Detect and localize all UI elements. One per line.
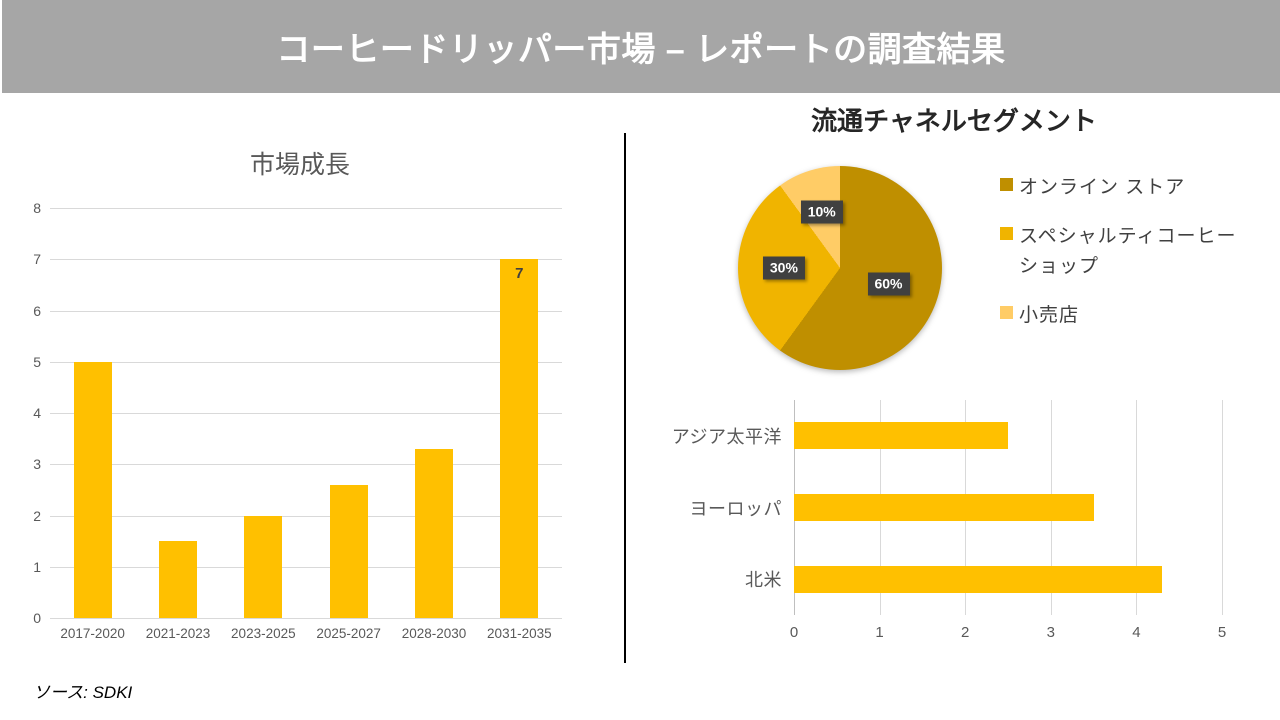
legend-swatch-icon	[1000, 178, 1013, 191]
bar: 7	[500, 259, 538, 618]
x-axis-tick-label: 5	[1218, 624, 1226, 641]
x-axis-tick-label: 2028-2030	[402, 626, 467, 641]
gridline: 5	[50, 362, 562, 363]
legend-item-label: オンライン ストア	[1019, 173, 1185, 202]
y-axis-tick-label: 7	[33, 251, 41, 267]
gridline: 3	[50, 464, 562, 465]
y-axis-tick-label: 6	[33, 303, 41, 319]
x-axis-tick-label: 2025-2027	[316, 626, 381, 641]
x-axis-tick-label: 2031-2035	[487, 626, 552, 641]
legend-swatch-icon	[1000, 306, 1013, 319]
distribution-channel-title: 流通チャネルセグメント	[654, 101, 1254, 138]
bar	[794, 422, 1008, 449]
distribution-channel-pie: 60%30%10%	[738, 166, 942, 370]
y-axis-tick-label: 8	[33, 200, 41, 216]
gridline: 2	[50, 516, 562, 517]
x-axis-tick-label: 1	[875, 624, 883, 641]
gridline: 6	[50, 311, 562, 312]
x-axis-tick-label: 3	[1047, 624, 1055, 641]
legend-item[interactable]: スペシャルティコーヒーショップ	[1000, 222, 1250, 281]
y-axis-tick-label: 2	[33, 508, 41, 524]
right-panel: 流通チャネルセグメント 60%30%10% オンライン ストアスペシャルティコー…	[624, 95, 1280, 720]
bar	[415, 449, 453, 618]
gridline: 0	[50, 618, 562, 619]
x-axis-tick-label: 2017-2020	[60, 626, 125, 641]
y-axis-category-label: アジア太平洋	[672, 423, 782, 449]
legend-item-label: 小売店	[1019, 301, 1079, 330]
x-axis-tick-label: 2	[961, 624, 969, 641]
y-axis-tick-label: 3	[33, 456, 41, 472]
gridline	[1222, 400, 1223, 615]
gridline: 1	[50, 567, 562, 568]
x-axis-tick-label: 4	[1132, 624, 1140, 641]
y-axis-tick-label: 4	[33, 405, 41, 421]
market-growth-chart: 市場成長 0123456782017-20202021-20232023-202…	[0, 100, 610, 720]
pie-slice-value-label: 30%	[763, 257, 805, 280]
x-axis-tick-label: 2021-2023	[146, 626, 211, 641]
legend-item-label: スペシャルティコーヒーショップ	[1019, 222, 1250, 281]
regional-market-plot-area: 012345アジア太平洋ヨーロッパ北米	[794, 400, 1222, 615]
y-axis-category-label: 北米	[745, 566, 782, 592]
legend-item[interactable]: 小売店	[1000, 301, 1250, 330]
page-title: コーヒードリッパー市場 – レポートの調査結果	[2, 0, 1280, 93]
header-banner: コーヒードリッパー市場 – レポートの調査結果	[2, 0, 1280, 93]
gridline: 8	[50, 208, 562, 209]
bar	[74, 362, 112, 618]
bar	[244, 516, 282, 619]
legend-item[interactable]: オンライン ストア	[1000, 173, 1250, 202]
source-note: ソース: SDKI	[33, 678, 132, 703]
gridline: 4	[50, 413, 562, 414]
bar	[159, 541, 197, 618]
pie-legend: オンライン ストアスペシャルティコーヒーショップ小売店	[1000, 173, 1250, 351]
pie-slice-value-label: 10%	[801, 200, 843, 223]
y-axis-tick-label: 0	[33, 610, 41, 626]
pie-slice-value-label: 60%	[867, 272, 909, 295]
bar	[794, 494, 1094, 521]
gridline: 7	[50, 259, 562, 260]
y-axis-tick-label: 1	[33, 559, 41, 575]
y-axis-category-label: ヨーロッパ	[690, 495, 783, 521]
legend-swatch-icon	[1000, 227, 1013, 240]
market-growth-plot-area: 0123456782017-20202021-20232023-20252025…	[50, 208, 562, 618]
bar	[794, 566, 1162, 593]
bar	[330, 485, 368, 618]
x-axis-tick-label: 2023-2025	[231, 626, 296, 641]
x-axis-tick-label: 0	[790, 624, 798, 641]
bar-value-label: 7	[500, 265, 538, 282]
market-growth-title: 市場成長	[0, 145, 600, 181]
y-axis-tick-label: 5	[33, 354, 41, 370]
